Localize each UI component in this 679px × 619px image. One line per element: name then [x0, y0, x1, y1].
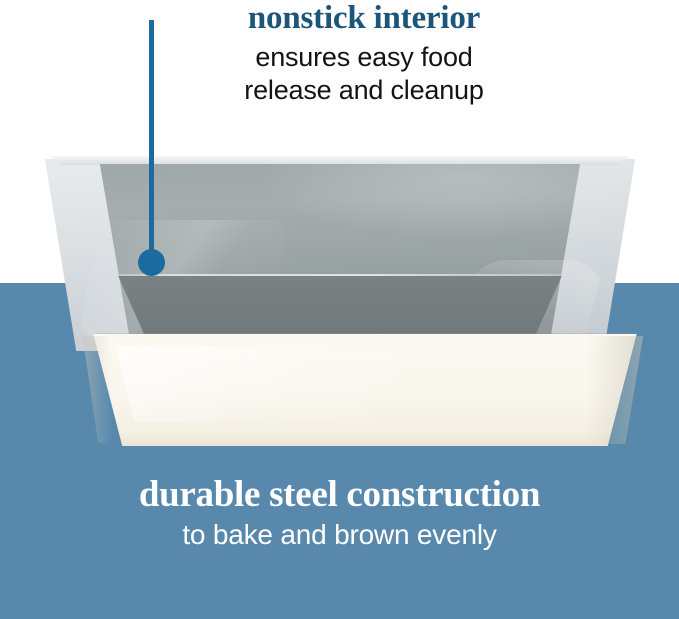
caption-bottom-headline: durable steel construction: [0, 474, 679, 516]
baking-pan-illustration: [26, 150, 654, 446]
callout-top-subline: ensures easy food release and cleanup: [168, 41, 560, 107]
callout-leader-line: [149, 20, 154, 264]
pan-body-left-shadow: [76, 336, 112, 444]
callout-top: nonstick interior ensures easy food rele…: [168, 0, 560, 107]
pan-rim-highlight: [44, 156, 636, 165]
callout-top-headline: nonstick interior: [168, 0, 560, 37]
product-infographic: nonstick interior ensures easy food rele…: [0, 0, 679, 619]
callout-leader-dot: [138, 249, 165, 276]
callout-top-subline-line-1: ensures easy food: [168, 41, 560, 74]
caption-bottom-subline: to bake and brown evenly: [0, 518, 679, 552]
caption-bottom: durable steel construction to bake and b…: [0, 474, 679, 552]
pan-body-highlight: [110, 346, 410, 422]
pan-body-right-shadow: [586, 336, 654, 444]
callout-top-subline-line-2: release and cleanup: [168, 74, 560, 107]
